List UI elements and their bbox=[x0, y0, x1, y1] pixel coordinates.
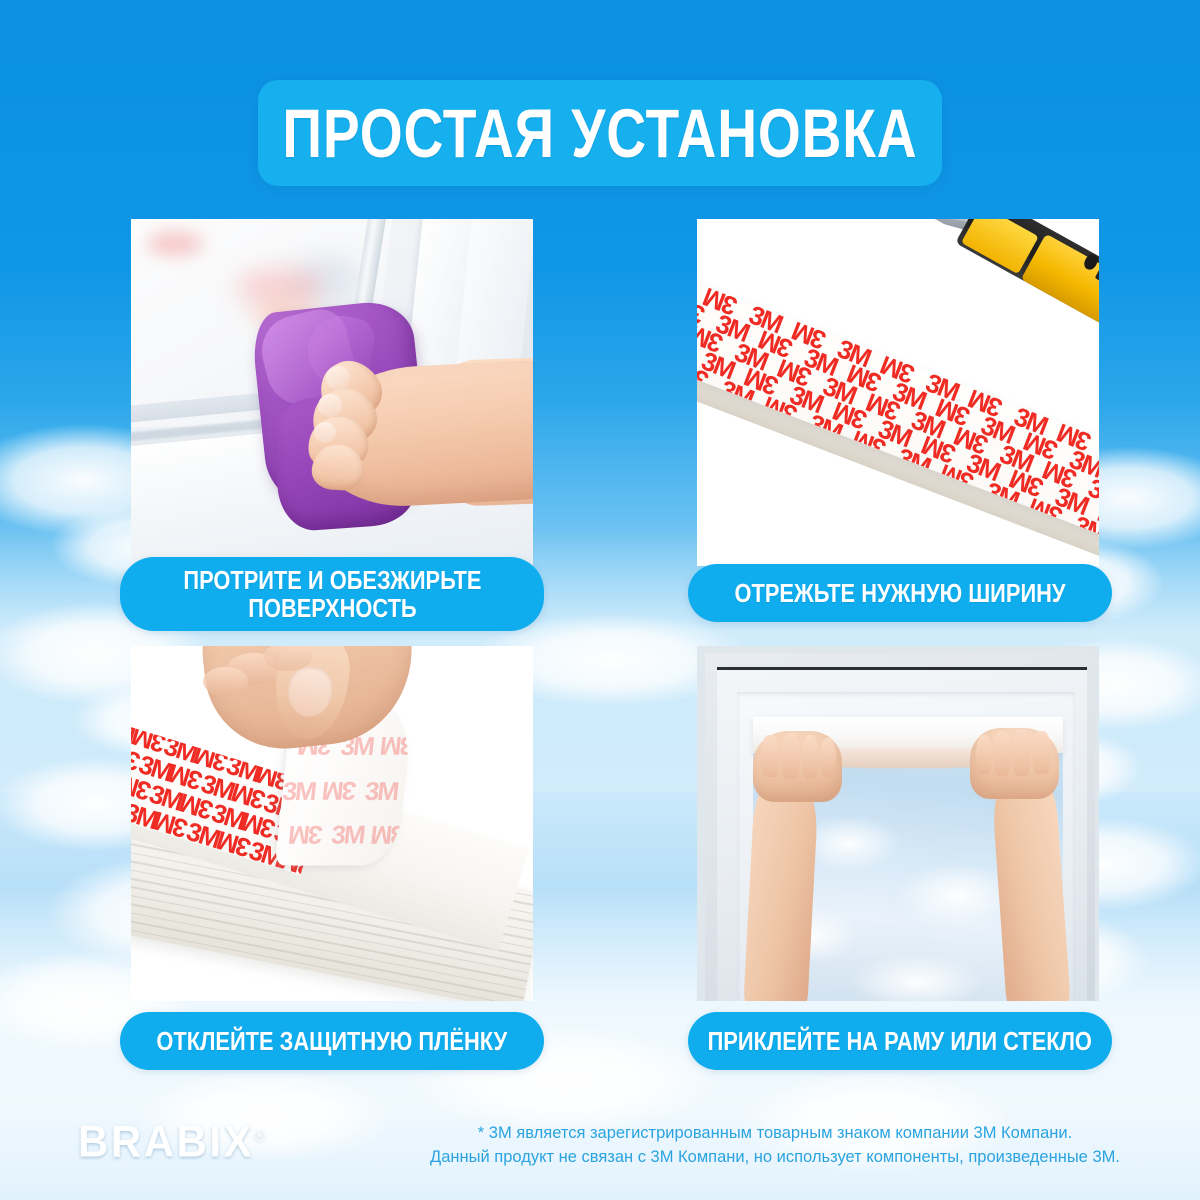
step-1-caption: ПРОТРИТЕ И ОБЕЗЖИРЬТЕ ПОВЕРХНОСТЬ bbox=[120, 557, 544, 631]
tape-3m-logo-reverse: 3M bbox=[281, 777, 316, 803]
tape-3m-logo-reverse: 3M bbox=[322, 777, 357, 803]
step-1-caption-line-2: ПОВЕРХНОСТЬ bbox=[183, 594, 481, 622]
brabix-wordmark: BRABIX bbox=[78, 1117, 254, 1166]
step-2-caption-line-1: ОТРЕЖЬТЕ НУЖНУЮ ШИРИНУ bbox=[735, 579, 1066, 607]
step-card-3: 3M3M3M3M3M3M3M3M3M3M3M3M3M3M3M3M3M3M3M3M… bbox=[131, 646, 533, 1001]
step-1-photo bbox=[131, 219, 533, 566]
registered-trademark-icon: ® bbox=[254, 1127, 265, 1145]
step-4-caption-line-1: ПРИКЛЕЙТЕ НА РАМУ ИЛИ СТЕКЛО bbox=[708, 1027, 1092, 1055]
step-card-2: 3M3M3M3M3M3M3M3M3M3M3M3M3M3M3M3M3M3M3M3M… bbox=[697, 219, 1099, 566]
brabix-logo: BRABIX® bbox=[78, 1117, 265, 1167]
step-3-photo: 3M3M3M3M3M3M3M3M3M3M3M3M3M3M3M3M3M3M3M3M… bbox=[131, 646, 533, 1001]
disclaimer-line-2: Данный продукт не связан с 3М Компани, н… bbox=[380, 1146, 1170, 1170]
step-3-caption-line-1: ОТКЛЕЙТЕ ЗАЩИТНУЮ ПЛЁНКУ bbox=[157, 1027, 508, 1055]
step-4-caption: ПРИКЛЕЙТЕ НА РАМУ ИЛИ СТЕКЛО bbox=[688, 1012, 1112, 1070]
step-4-photo bbox=[697, 646, 1099, 1001]
disclaimer-line-1: * 3M является зарегистрированным товарны… bbox=[380, 1122, 1170, 1146]
disclaimer: * 3M является зарегистрированным товарны… bbox=[380, 1122, 1170, 1170]
tape-3m-logo-reverse: 3M bbox=[289, 822, 324, 848]
step-1-caption-line-1: ПРОТРИТЕ И ОБЕЗЖИРЬТЕ bbox=[183, 566, 481, 594]
tape-3m-logo-reverse: 3M bbox=[364, 777, 399, 803]
step-card-4 bbox=[697, 646, 1099, 1001]
step-2-photo: 3M3M3M3M3M3M3M3M3M3M3M3M3M3M3M3M3M3M3M3M… bbox=[697, 219, 1099, 566]
step-3-caption: ОТКЛЕЙТЕ ЗАЩИТНУЮ ПЛЁНКУ bbox=[120, 1012, 544, 1070]
step-card-1 bbox=[131, 219, 533, 566]
step-2-caption: ОТРЕЖЬТЕ НУЖНУЮ ШИРИНУ bbox=[688, 564, 1112, 622]
tape-3m-logo-reverse: 3M bbox=[330, 822, 365, 848]
